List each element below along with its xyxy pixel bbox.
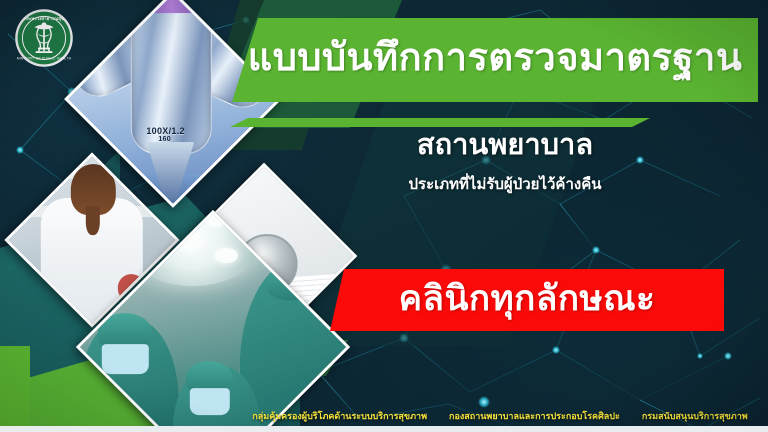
vignette-overlay [0, 0, 768, 432]
cover-page: กระทรวงสาธารณสุข MINISTRY OF PUBLIC HEAL… [0, 0, 768, 432]
bottom-strip [0, 426, 768, 432]
